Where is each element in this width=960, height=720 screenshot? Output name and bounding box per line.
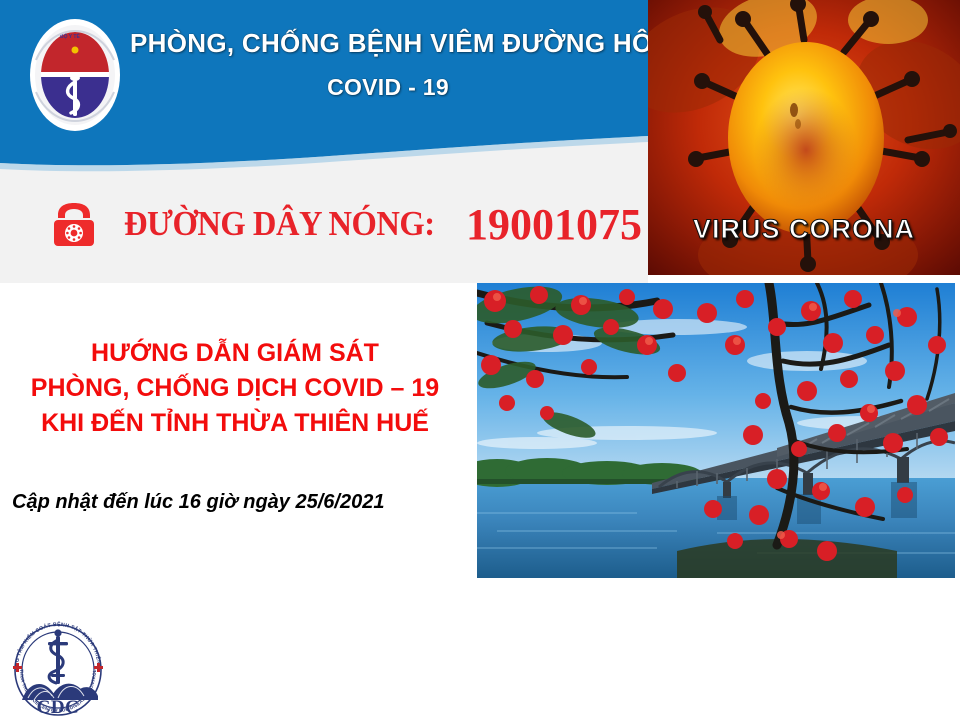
- ministry-of-health-logo-icon: BỘ Y TẾ: [22, 12, 128, 138]
- hue-bridge-photo: [477, 283, 955, 578]
- virus-corona-image: VIRUS CORONA: [648, 0, 960, 275]
- page-title-line-3: KHI ĐẾN TỈNH THỪA THIÊN HUẾ: [0, 406, 470, 441]
- banner-headline: PHÒNG, CHỐNG BỆNH VIÊM ĐƯỜNG HÔ HẤP CẤP …: [130, 26, 646, 102]
- page-title-line-1: HƯỚNG DẪN GIÁM SÁT: [0, 336, 470, 371]
- telephone-icon: [48, 198, 100, 250]
- page-title: HƯỚNG DẪN GIÁM SÁT PHÒNG, CHỐNG DỊCH COV…: [0, 336, 470, 441]
- hotline-label: ĐƯỜNG DÂY NÓNG:: [124, 204, 435, 244]
- covid-banner: BỘ Y TẾ PHÒNG, CHỐNG BỆNH VIÊM ĐƯỜNG HÔ …: [0, 0, 648, 283]
- svg-text:CDC: CDC: [37, 697, 80, 718]
- hotline-block: ĐƯỜNG DÂY NÓNG: 19001075: [48, 198, 642, 250]
- virus-corona-caption: VIRUS CORONA: [648, 214, 960, 245]
- banner-headline-line-1: PHÒNG, CHỐNG BỆNH VIÊM ĐƯỜNG HÔ HẤP CẤP: [130, 26, 646, 60]
- hotline-number: 19001075: [466, 199, 642, 250]
- cdc-logo: TRUNG TÂM KIỂM SOÁT BỆNH TẬT THỪA THIÊN …: [6, 618, 110, 718]
- banner-headline-line-2: COVID - 19: [130, 72, 646, 102]
- update-timestamp-note: Cập nhật đến lúc 16 giờ ngày 25/6/2021: [12, 489, 472, 515]
- page-title-line-2: PHÒNG, CHỐNG DỊCH COVID – 19: [0, 371, 470, 406]
